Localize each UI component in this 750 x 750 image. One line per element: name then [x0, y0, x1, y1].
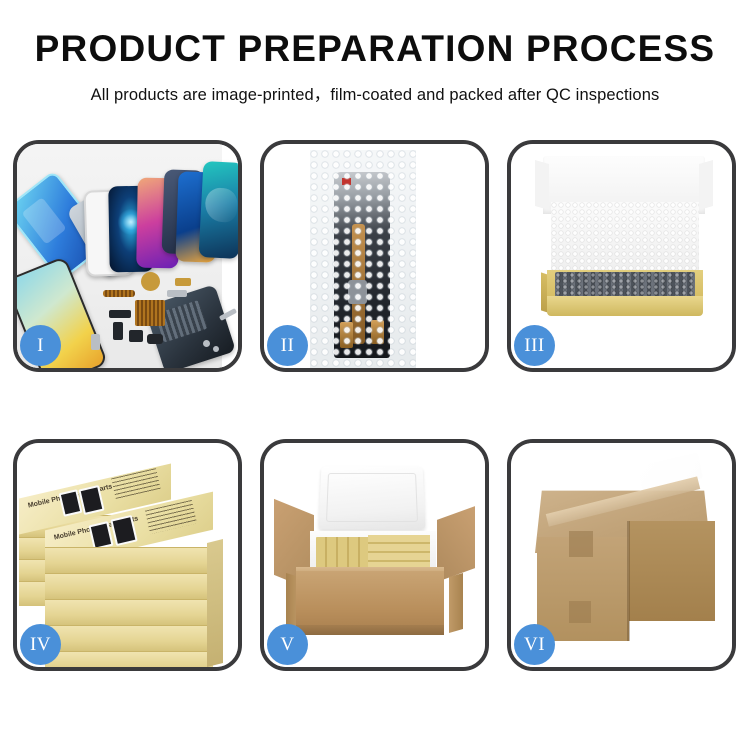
bubble-texture [310, 150, 416, 368]
process-step-panel-2[interactable]: II [260, 140, 489, 372]
foam-texture [551, 202, 699, 274]
bubble-wrap-sheet [310, 150, 416, 368]
step-badge-4: IV [20, 624, 61, 665]
process-step-panel-4[interactable]: Mobile Phone Spare Parts Mobile Phone Sp… [13, 439, 242, 671]
carton-edge-seam [627, 521, 630, 641]
carton-body [296, 571, 444, 635]
yellow-box-front-wall [547, 296, 703, 316]
part-speaker-module [141, 272, 160, 291]
part-antenna-flex [167, 290, 187, 297]
step-badge-1: I [20, 325, 61, 366]
step-badge-2: II [267, 325, 308, 366]
packed-parts-row [555, 272, 695, 298]
step-badge-3: III [514, 325, 555, 366]
stack-box-front-3 [45, 599, 213, 626]
step-badge-6: VI [514, 624, 555, 665]
page-subtitle: All products are image-printed，film-coat… [0, 81, 750, 105]
part-screw-a [203, 340, 210, 347]
part-logic-board [135, 300, 165, 326]
part-screw-b [213, 346, 219, 352]
stack-side-right [207, 539, 223, 667]
foam-liner [551, 202, 699, 274]
carton-flap-mark-top [569, 531, 593, 557]
process-step-panel-1[interactable]: I [13, 140, 242, 372]
stack-box-front-1 [45, 547, 213, 574]
stack-box-front-4 [45, 625, 213, 652]
carton-right-face [629, 521, 715, 621]
part-taptic-engine [147, 334, 163, 344]
carton-flap-mark-bottom [569, 601, 591, 623]
process-step-panel-5[interactable]: V [260, 439, 489, 671]
part-connector-b [113, 322, 123, 340]
part-sim-tray [91, 334, 100, 350]
process-step-panel-6[interactable]: VI [507, 439, 736, 671]
page-header: PRODUCT PREPARATION PROCESS All products… [0, 0, 750, 105]
part-screwdriver [219, 308, 237, 321]
part-button-flex [175, 278, 191, 286]
process-step-panel-3[interactable]: III [507, 140, 736, 372]
process-steps-grid: I II [13, 140, 737, 671]
stack-box-front-5 [45, 651, 213, 667]
packed-parts-texture [555, 272, 695, 298]
step-badge-5: V [267, 624, 308, 665]
stack-box-front-2 [45, 573, 213, 600]
part-flex-strip [103, 290, 135, 297]
part-camera-module [129, 330, 143, 342]
page-title: PRODUCT PREPARATION PROCESS [0, 30, 750, 69]
carton-corner-right [449, 573, 463, 633]
part-connector-a [109, 310, 131, 318]
foam-lid [318, 467, 425, 530]
